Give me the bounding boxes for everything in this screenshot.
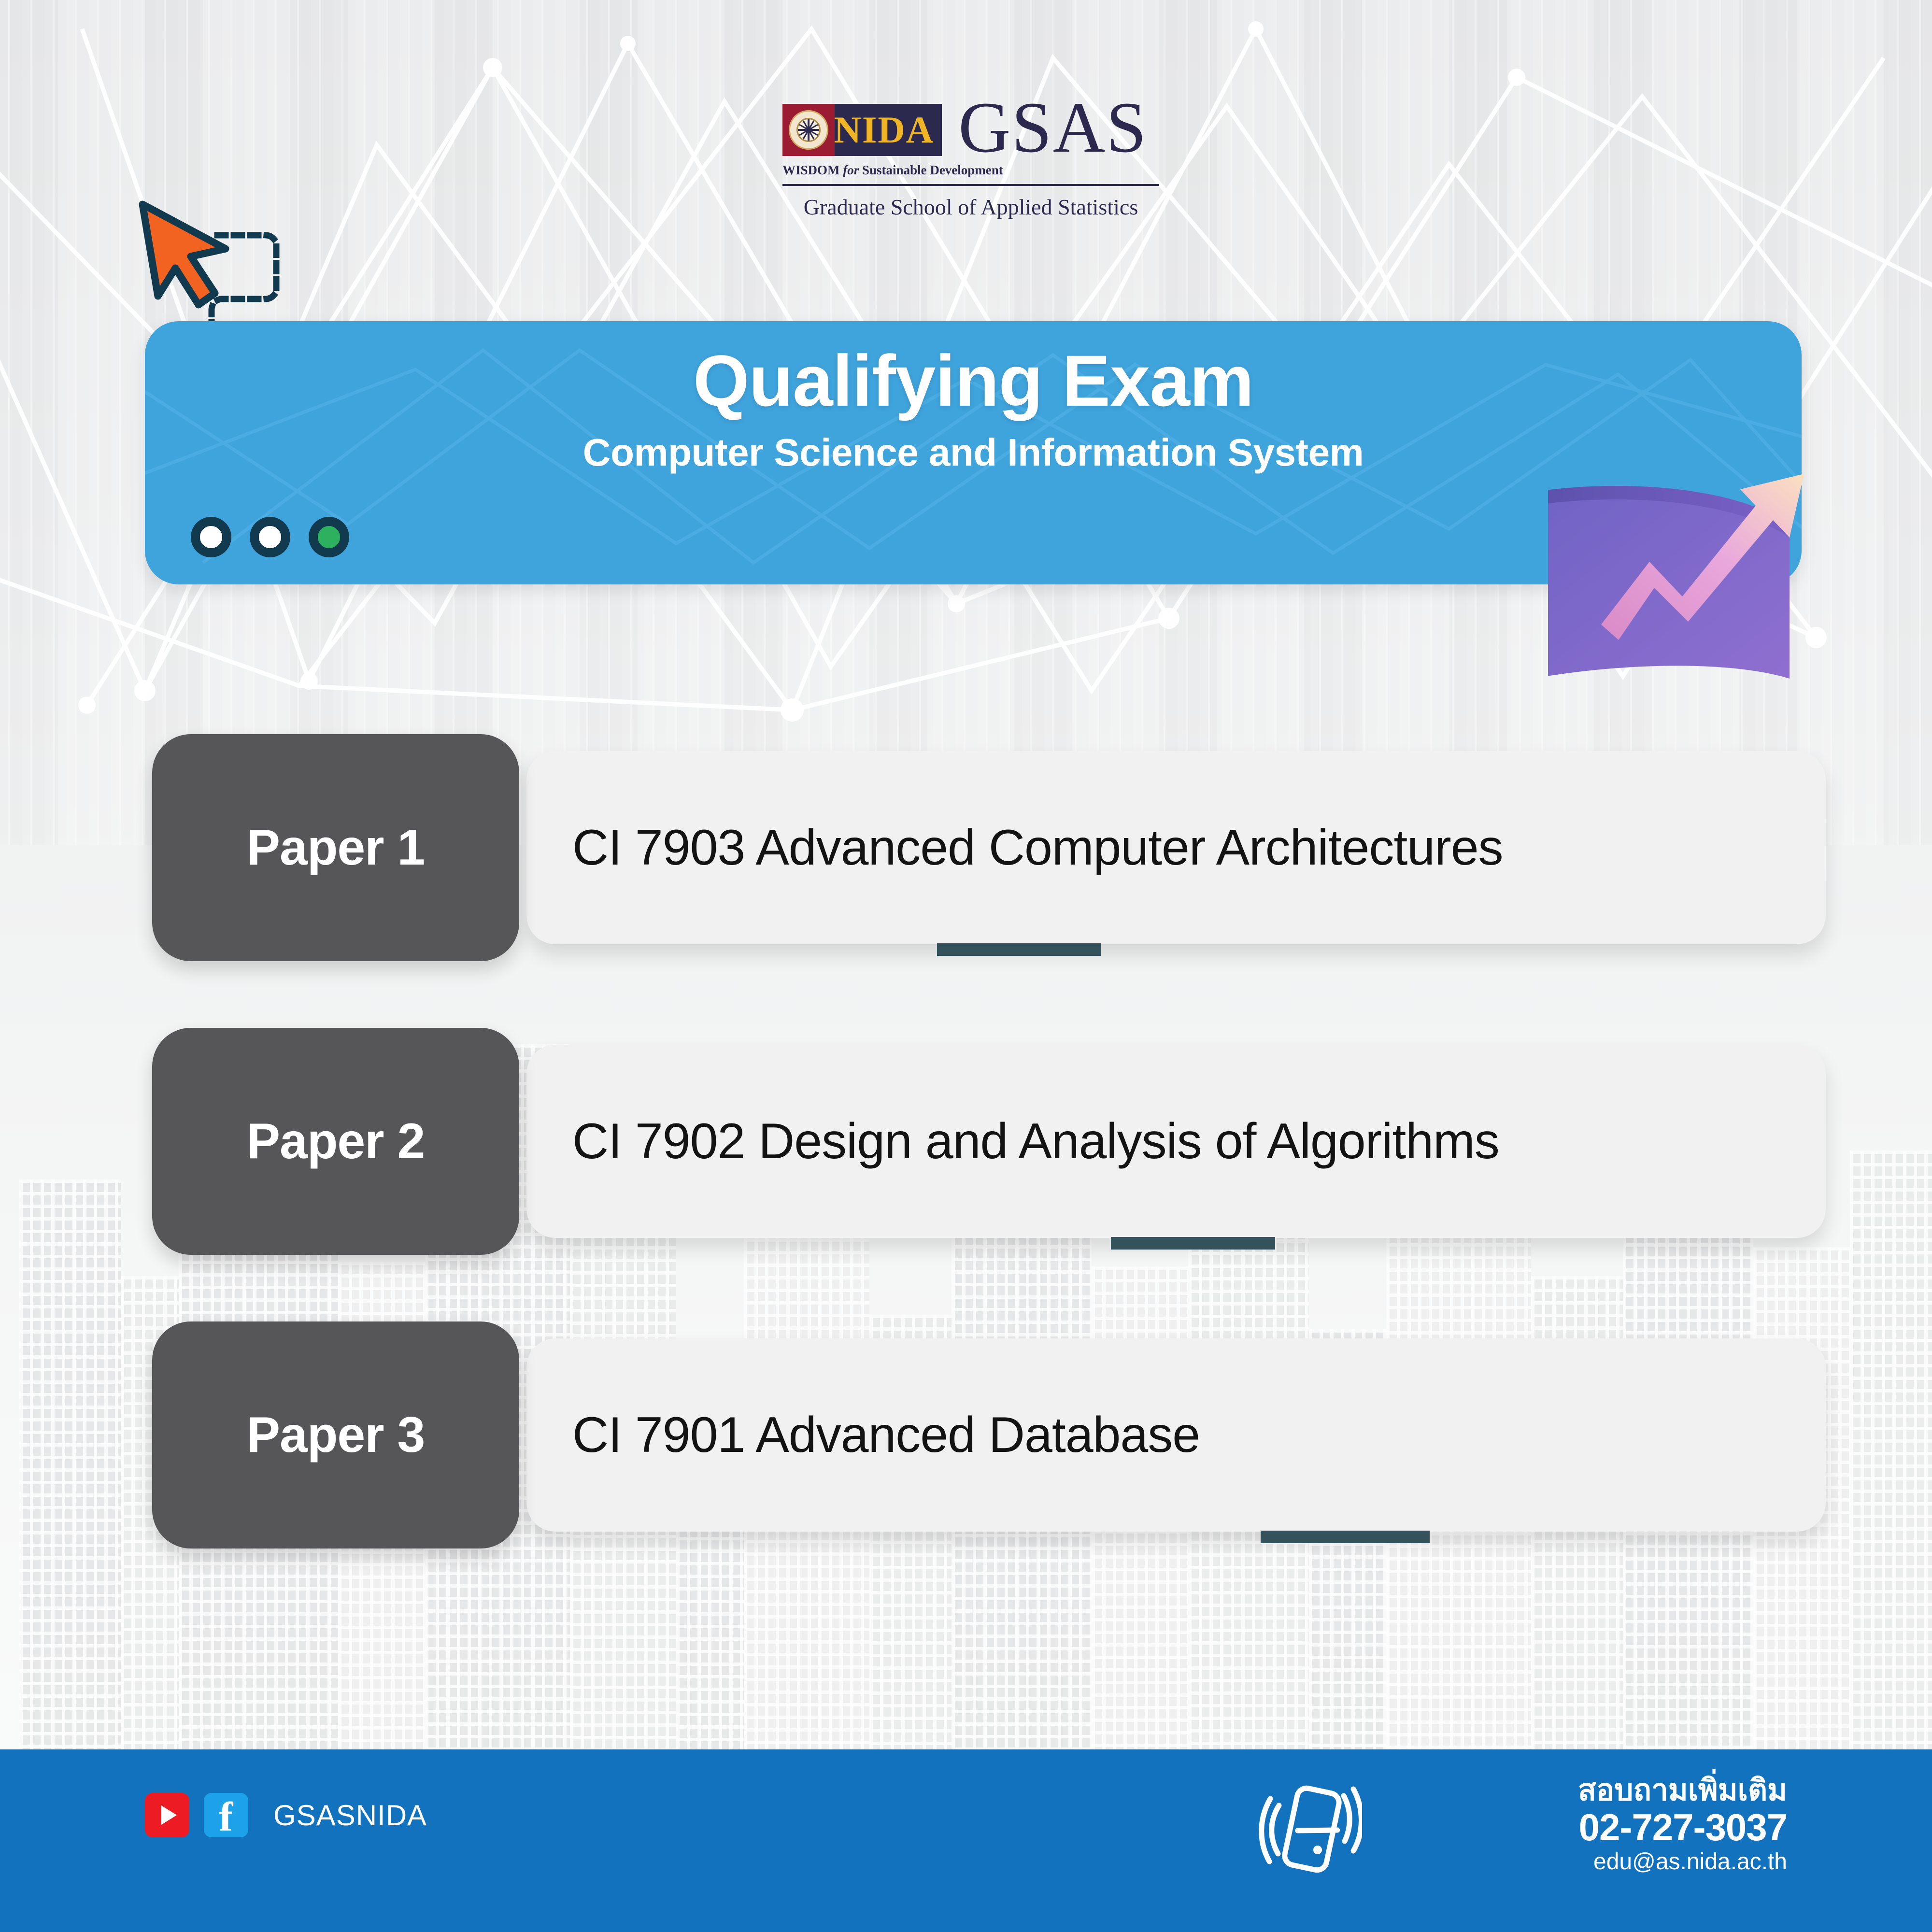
paper-badge-3[interactable]: Paper 3 xyxy=(152,1321,519,1548)
contact-heading: สอบถามเพิ่มเติม xyxy=(1578,1775,1787,1806)
window-dot-white-2[interactable] xyxy=(250,517,290,557)
window-dot-green[interactable] xyxy=(309,517,349,557)
gsas-wordmark: GSAS xyxy=(958,95,1148,160)
paper-accent-1 xyxy=(937,943,1101,956)
paper-list: CI 7903 Advanced Computer Architectures … xyxy=(0,751,1932,1632)
paper-course-1: CI 7903 Advanced Computer Architectures xyxy=(572,819,1503,877)
logo-divider xyxy=(782,184,1159,186)
paper-accent-2 xyxy=(1111,1237,1275,1250)
nida-tagline: WISDOM for Sustainable Development xyxy=(782,163,942,178)
paper-accent-3 xyxy=(1261,1531,1430,1543)
paper-badge-label-1: Paper 1 xyxy=(247,819,425,877)
brand-logo-block: NIDA WISDOM for Sustainable Development … xyxy=(782,104,1159,220)
window-dots xyxy=(191,517,349,557)
paper-row-1: CI 7903 Advanced Computer Architectures … xyxy=(0,751,1932,1045)
paper-badge-label-2: Paper 2 xyxy=(247,1113,425,1170)
paper-badge-2[interactable]: Paper 2 xyxy=(152,1028,519,1255)
paper-row-2: CI 7902 Design and Analysis of Algorithm… xyxy=(0,1045,1932,1338)
contact-email[interactable]: edu@as.nida.ac.th xyxy=(1578,1849,1787,1875)
paper-course-2: CI 7902 Design and Analysis of Algorithm… xyxy=(572,1113,1499,1170)
paper-badge-1[interactable]: Paper 1 xyxy=(152,734,519,961)
mobile-phone-icon xyxy=(1256,1776,1362,1888)
poster-canvas: NIDA WISDOM for Sustainable Development … xyxy=(0,0,1932,1932)
youtube-icon[interactable] xyxy=(145,1793,189,1837)
social-links: f GSASNIDA xyxy=(145,1793,427,1837)
facebook-icon[interactable]: f xyxy=(204,1793,248,1837)
window-dot-white-1[interactable] xyxy=(191,517,231,557)
paper-card-2[interactable]: CI 7902 Design and Analysis of Algorithm… xyxy=(526,1045,1826,1238)
paper-badge-label-3: Paper 3 xyxy=(247,1406,425,1464)
social-handle: GSASNIDA xyxy=(273,1799,427,1832)
footer-bar: f GSASNIDA สอบถามเพิ่มเติม 02-727-3037 e… xyxy=(0,1749,1932,1932)
school-name: Graduate School of Applied Statistics xyxy=(782,194,1159,220)
nida-badge: NIDA xyxy=(782,104,942,156)
nida-wordmark: NIDA xyxy=(834,111,934,149)
contact-phone[interactable]: 02-727-3037 xyxy=(1578,1806,1787,1849)
paper-row-3: CI 7901 Advanced Database Paper 3 xyxy=(0,1338,1932,1632)
page-title: Qualifying Exam xyxy=(145,344,1802,417)
growth-arrow-chart-icon xyxy=(1548,452,1818,703)
nida-seal-icon xyxy=(789,110,828,150)
paper-card-1[interactable]: CI 7903 Advanced Computer Architectures xyxy=(526,751,1826,944)
contact-block: สอบถามเพิ่มเติม 02-727-3037 edu@as.nida.… xyxy=(1578,1775,1787,1875)
paper-card-3[interactable]: CI 7901 Advanced Database xyxy=(526,1338,1826,1532)
paper-course-3: CI 7901 Advanced Database xyxy=(572,1406,1200,1464)
